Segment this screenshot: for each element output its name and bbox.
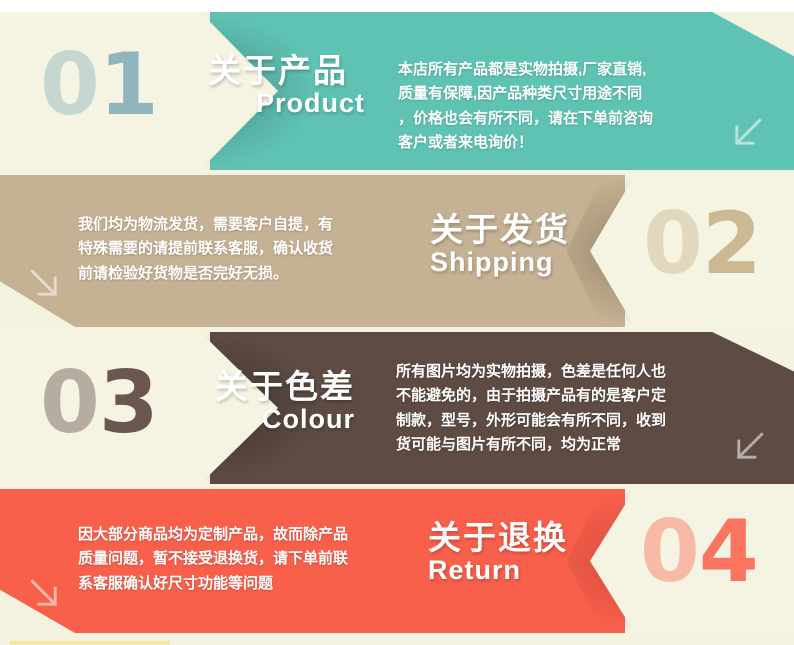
section-colour-number: 03: [40, 360, 158, 446]
number-digit-2: 3: [99, 353, 158, 453]
section-colour-body: 所有图片均为实物拍摄，色差是任何人也 不能避免的，由于拍摄产品有的是客户定 制款…: [396, 360, 726, 457]
body-line: 质量问题，暂不接受退换货，请下单前联: [78, 547, 408, 571]
section-product-title-cn: 关于产品: [208, 54, 365, 89]
body-line: 特殊需要的请提前联系客服，确认收货: [78, 237, 398, 261]
section-shipping-title-cn: 关于发货: [430, 213, 570, 248]
number-digit-1: 0: [40, 35, 99, 135]
section-colour-title-cn: 关于色差: [215, 370, 355, 405]
body-line: 前请检验好货物是否完好无损。: [78, 262, 398, 286]
section-colour-title-en: Colour: [215, 405, 355, 433]
number-digit-1: 0: [40, 353, 99, 453]
number-digit-1: 0: [643, 194, 702, 294]
body-line: 所有图片均为实物拍摄，色差是任何人也: [396, 360, 726, 384]
arrow-down-left-icon: [730, 116, 764, 150]
section-shipping-number: 02: [643, 201, 761, 287]
number-digit-1: 0: [640, 502, 699, 602]
body-line: 本店所有产品都是实物拍摄,厂家直销,: [398, 58, 718, 82]
section-return-title-group: 关于退换 Return: [428, 521, 568, 584]
body-line: 不能避免的，由于拍摄产品有的是客户定: [396, 384, 726, 408]
section-return-title-en: Return: [428, 556, 568, 584]
section-product-title-group: 关于产品 Product: [208, 54, 365, 117]
body-line: 质量有保障,因产品种类尺寸用途不同: [398, 82, 718, 106]
body-line: 制款，型号，外形可能会有所不同，收到: [396, 409, 726, 433]
number-digit-2: 1: [99, 35, 158, 135]
section-return-body: 因大部分商品均为定制产品，故而除产品 质量问题，暂不接受退换货，请下单前联 系客…: [78, 523, 408, 596]
body-line: 客户或者来电询价！: [398, 131, 718, 155]
section-return-title-cn: 关于退换: [428, 521, 568, 556]
section-colour-title-group: 关于色差 Colour: [215, 370, 355, 433]
arrow-down-right-icon: [28, 577, 62, 611]
section-product: 01 关于产品 Product 本店所有产品都是实物拍摄,厂家直销, 质量有保障…: [0, 12, 794, 170]
section-shipping-title-group: 关于发货 Shipping: [430, 213, 570, 276]
section-product-number: 01: [40, 42, 158, 128]
body-line: 因大部分商品均为定制产品，故而除产品: [78, 523, 408, 547]
body-line: 货可能与图片有所不同，均为正常: [396, 433, 726, 457]
arrow-down-right-icon: [28, 267, 62, 301]
arrow-down-left-icon: [732, 430, 766, 464]
section-product-body: 本店所有产品都是实物拍摄,厂家直销, 质量有保障,因产品种类尺寸用途不同 ，价格…: [398, 58, 718, 155]
number-digit-2: 2: [702, 194, 761, 294]
section-shipping-title-en: Shipping: [430, 248, 570, 276]
section-product-title-en: Product: [208, 89, 365, 117]
body-line: ，价格也会有所不同，请在下单前咨询: [398, 107, 718, 131]
section-return-number: 04: [640, 509, 758, 595]
section-shipping: 02 关于发货 Shipping 我们均为物流发货，需要客户自提，有 特殊需要的…: [0, 175, 794, 327]
bottom-accent-strip: [10, 641, 170, 645]
section-colour: 03 关于色差 Colour 所有图片均为实物拍摄，色差是任何人也 不能避免的，…: [0, 332, 794, 484]
body-line: 系客服确认好尺寸功能等问题: [78, 572, 408, 596]
top-edge-strip: [0, 0, 794, 12]
section-shipping-body: 我们均为物流发货，需要客户自提，有 特殊需要的请提前联系客服，确认收货 前请检验…: [78, 213, 398, 286]
number-digit-2: 4: [699, 502, 758, 602]
info-banner-page: 01 关于产品 Product 本店所有产品都是实物拍摄,厂家直销, 质量有保障…: [0, 0, 794, 645]
body-line: 我们均为物流发货，需要客户自提，有: [78, 213, 398, 237]
section-return: 04 关于退换 Return 因大部分商品均为定制产品，故而除产品 质量问题，暂…: [0, 489, 794, 633]
